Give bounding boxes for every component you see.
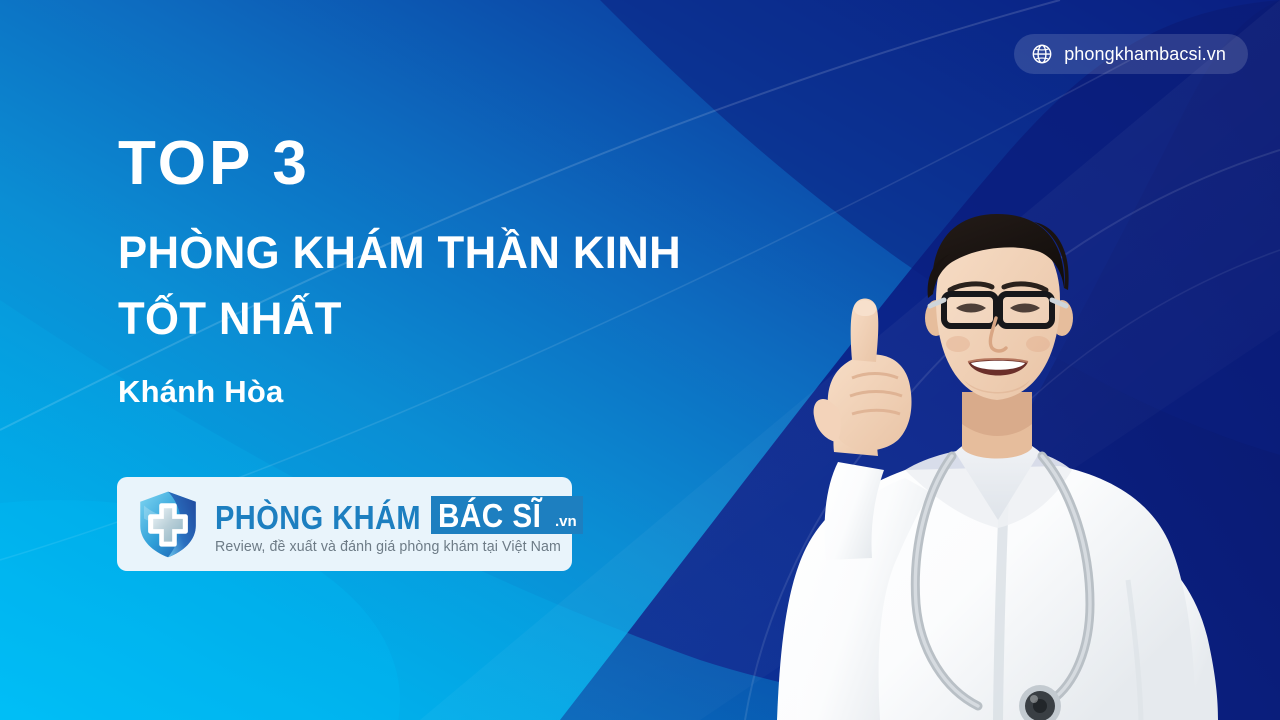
headline-line-2: TỐT NHẤT <box>118 291 826 347</box>
brand-tagline: Review, đề xuất và đánh giá phòng khám t… <box>215 539 575 555</box>
headline-line-1: PHÒNG KHÁM THẦN KINH <box>118 225 826 281</box>
brand-wordmark: PHÒNG KHÁM BÁC SĨ .vn <box>215 494 583 534</box>
headline-eyebrow: TOP 3 <box>118 132 848 195</box>
website-url-badge[interactable]: phongkhambacsi.vn <box>1014 34 1248 74</box>
brand-word-highlight-box: BÁC SĨ .vn <box>431 496 583 534</box>
brand-word-tld: .vn <box>555 514 577 532</box>
medical-shield-cross-icon <box>131 487 205 561</box>
brand-logo-text: PHÒNG KHÁM BÁC SĨ .vn Review, đề xuất và… <box>215 494 583 555</box>
promo-banner: phongkhambacsi.vn TOP 3 PHÒNG KHÁM THẦN … <box>0 0 1280 720</box>
headline-location: Khánh Hòa <box>118 374 848 410</box>
globe-icon <box>1031 43 1053 65</box>
eyeglasses <box>930 294 1066 326</box>
brand-word-highlight: BÁC SĨ <box>438 499 541 532</box>
headline-block: TOP 3 PHÒNG KHÁM THẦN KINH TỐT NHẤT Khán… <box>118 132 848 410</box>
brand-word-primary: PHÒNG KHÁM <box>215 501 421 534</box>
brand-logo-card[interactable]: PHÒNG KHÁM BÁC SĨ .vn Review, đề xuất và… <box>117 477 572 571</box>
website-url-text: phongkhambacsi.vn <box>1064 44 1226 65</box>
